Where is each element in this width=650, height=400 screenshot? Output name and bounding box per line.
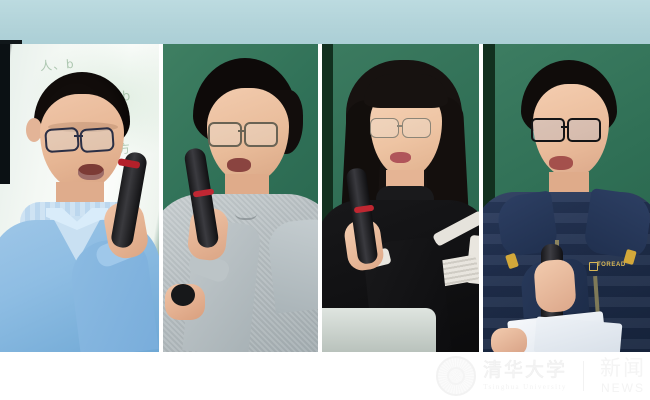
jacket-brand-label: TOREAD bbox=[597, 262, 626, 268]
panel-2-glasses-bridge bbox=[238, 130, 246, 132]
photo-strip: 人、b 人、b 方 9 bbox=[0, 44, 650, 352]
panel-3-laptop bbox=[322, 308, 436, 352]
photo-panel-1: 人、b 人、b 方 9 bbox=[0, 44, 159, 352]
panel-4-mouth bbox=[549, 156, 573, 170]
watermark-university: 清华大学 Tsinghua University bbox=[483, 361, 567, 391]
panel-1-mouth bbox=[78, 164, 104, 180]
tsinghua-seal-icon bbox=[436, 356, 476, 396]
photo-panel-3 bbox=[322, 44, 479, 352]
photo-panel-2 bbox=[163, 44, 318, 352]
watermark-divider bbox=[583, 361, 584, 391]
watermark-university-cn: 清华大学 bbox=[483, 361, 567, 380]
panel-3-glasses-bridge bbox=[397, 125, 403, 127]
panel-4-hand bbox=[533, 259, 577, 314]
panel-2-mouth bbox=[227, 158, 251, 172]
watermark-section: 新闻 NEWS bbox=[600, 358, 646, 395]
panel-3-bangs bbox=[364, 74, 448, 108]
panel-2-left-arm bbox=[266, 216, 318, 313]
panel-2-glasses-right-lens bbox=[244, 122, 278, 147]
watermark-section-cn: 新闻 bbox=[600, 358, 646, 379]
whiteboard-text-1: 人、b bbox=[39, 55, 75, 74]
watermark-section-en: NEWS bbox=[601, 381, 645, 395]
panel-3-glasses-left-lens bbox=[370, 118, 399, 138]
panel-2-glasses-left-lens bbox=[208, 122, 242, 147]
panel-3-glasses-right-lens bbox=[402, 118, 431, 138]
panel-3-mouth bbox=[390, 152, 411, 163]
panel-4-glasses-bridge bbox=[561, 126, 568, 128]
screenshot-root: 人、b 人、b 方 9 bbox=[0, 0, 650, 400]
top-band bbox=[0, 0, 650, 44]
photo-panel-4: TOREAD bbox=[483, 44, 650, 352]
panel-4-glasses-right-lens bbox=[567, 118, 601, 142]
watermark-university-en: Tsinghua University bbox=[483, 383, 566, 391]
panel-4-paper-sheet-2 bbox=[534, 316, 623, 352]
presenter-clicker-icon bbox=[171, 284, 195, 306]
panel-1-glasses-bridge bbox=[74, 135, 83, 137]
panel-2-neck-seam bbox=[235, 204, 257, 220]
panel-1-dark-edge bbox=[0, 44, 10, 184]
panel-1-glasses-right-lens bbox=[79, 127, 115, 153]
panel-4-lower-hand bbox=[491, 328, 527, 352]
watermark: 清华大学 Tsinghua University 新闻 NEWS bbox=[436, 352, 646, 400]
panel-1-glasses-left-lens bbox=[44, 127, 80, 153]
panel-4-hood-right bbox=[583, 188, 650, 260]
panel-4-glasses-left-lens bbox=[531, 118, 565, 142]
